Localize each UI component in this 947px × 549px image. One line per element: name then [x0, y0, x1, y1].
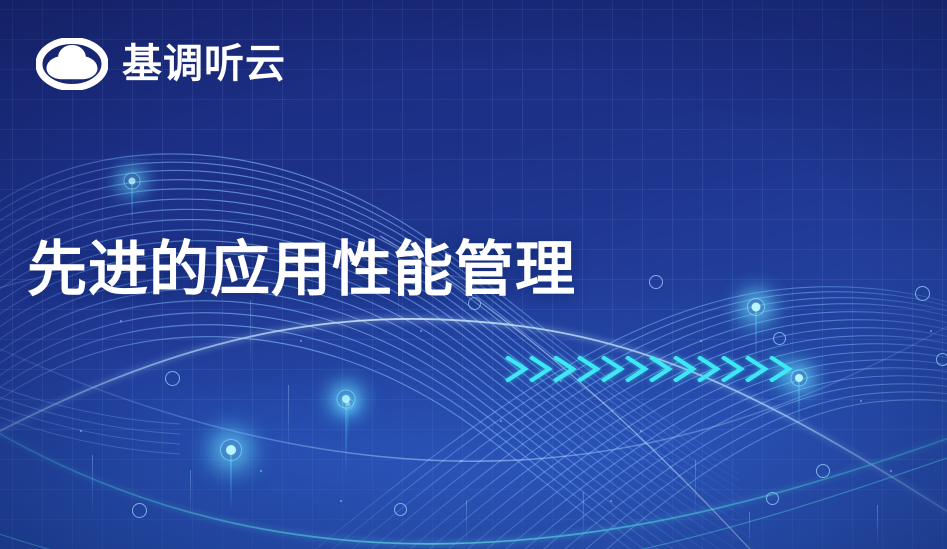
left-fan-lines	[0, 154, 770, 549]
chevron-right-icon	[505, 356, 529, 382]
glow-halo	[342, 398, 354, 410]
tick-line	[250, 300, 251, 370]
ring-h	[766, 492, 779, 505]
speck	[890, 470, 892, 472]
speck	[460, 460, 462, 462]
cloud-in-oval-logo-icon	[36, 38, 108, 90]
brand-logo-text: 基调听云	[122, 44, 286, 84]
glow-node-lower-left	[230, 450, 231, 451]
speck	[640, 430, 642, 432]
glow-node-far-left	[347, 404, 348, 405]
glow-dot	[226, 445, 236, 455]
ring-g	[816, 464, 830, 478]
chevron-right-icon	[769, 356, 793, 382]
glow-node-top-left	[131, 181, 132, 182]
glow-halo	[123, 173, 140, 190]
chevron-right-icon	[625, 356, 649, 382]
glow-dot	[346, 402, 350, 406]
glow-node-mid-left	[345, 399, 346, 400]
tick-line	[466, 500, 467, 545]
tick-line	[583, 492, 584, 542]
chevron-right-icon	[649, 356, 673, 382]
promo-banner: 基调听云 先进的应用性能管理	[0, 0, 947, 549]
secondary-wave	[0, 296, 947, 461]
speck	[500, 420, 502, 422]
chevron-right-icon	[577, 356, 601, 382]
glow-dot	[751, 303, 760, 312]
speck	[340, 500, 342, 502]
speck	[610, 500, 612, 502]
brand-logo[interactable]: 基调听云	[36, 38, 286, 90]
chevron-right-icon	[601, 356, 625, 382]
tick-line	[877, 505, 878, 547]
right-fan-lines	[262, 287, 947, 549]
ring-i	[936, 353, 947, 366]
speck	[120, 320, 122, 322]
light-beam	[131, 181, 132, 225]
speck	[930, 330, 932, 332]
ring-e	[165, 371, 180, 386]
glow-dot	[342, 395, 350, 403]
speck	[420, 330, 422, 332]
chevron-right-icon	[553, 356, 577, 382]
light-beam	[345, 399, 346, 477]
cyan-wave-lower	[0, 440, 947, 549]
bottom-left-arc-bundle	[0, 376, 180, 454]
tick-line	[190, 470, 191, 520]
primary-wave	[0, 319, 947, 545]
tick-line	[749, 512, 750, 548]
glow-node-right-upper	[755, 307, 756, 308]
cyan-wave	[0, 410, 947, 544]
light-beam	[230, 450, 231, 512]
chevron-right-icon	[745, 356, 769, 382]
ring-c	[773, 332, 786, 345]
glow-halo	[220, 439, 242, 461]
chevron-right-icon	[529, 356, 553, 382]
chevron-right-icon	[721, 356, 745, 382]
tick-line	[288, 385, 289, 460]
chevron-right-icon	[673, 356, 697, 382]
glow-dot	[795, 374, 803, 382]
glow-node-arrow-tip	[798, 378, 799, 379]
glow-halo	[747, 298, 765, 316]
page-title: 先进的应用性能管理	[27, 238, 576, 303]
ring-b	[915, 286, 930, 301]
ring-f	[132, 503, 147, 518]
ring-a	[649, 275, 663, 289]
speck	[260, 470, 262, 472]
chevron-arrow-strip	[505, 356, 793, 382]
speck	[700, 340, 702, 342]
speck	[80, 430, 82, 432]
speck	[860, 400, 862, 402]
chevron-right-icon	[697, 356, 721, 382]
tick-line	[695, 460, 696, 516]
glow-dot	[128, 178, 135, 185]
light-beam	[347, 404, 348, 444]
glow-halo	[336, 390, 355, 409]
speck	[300, 340, 302, 342]
tick-line	[92, 455, 93, 517]
light-beam	[798, 378, 799, 430]
ring-j	[394, 503, 407, 516]
